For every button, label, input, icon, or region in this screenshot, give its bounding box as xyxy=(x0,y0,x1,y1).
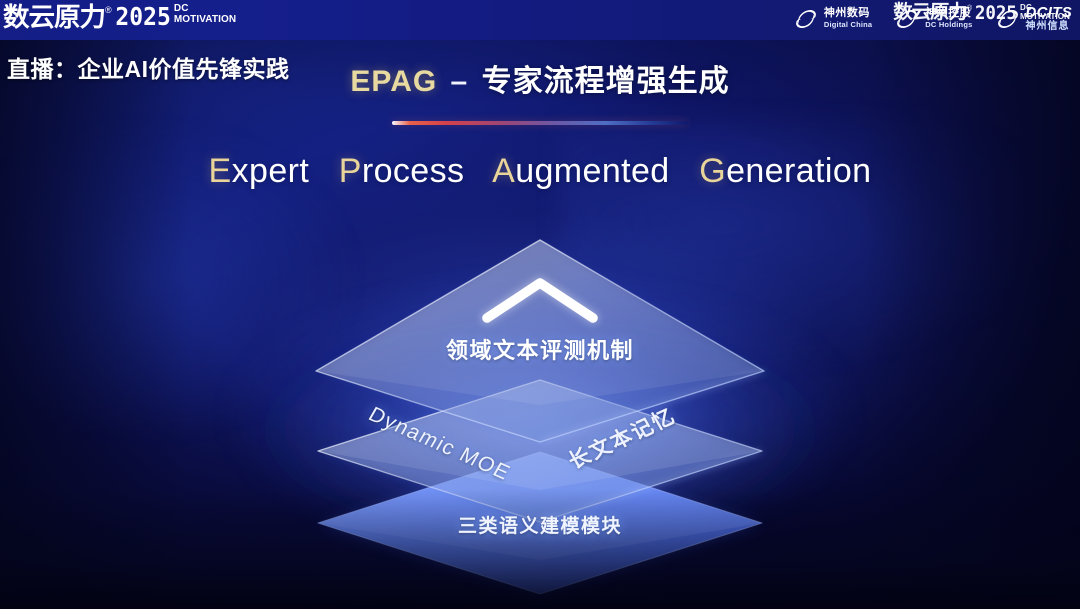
subtitle-word-rest: rocess xyxy=(362,152,465,190)
partner-name-cn: 神州控股 xyxy=(925,8,972,19)
subtitle-word-augmented: Augmented xyxy=(492,152,670,190)
swirl-logo-icon xyxy=(793,6,819,32)
partner-label-group: 神州数码 Digital China xyxy=(824,8,872,29)
subtitle-space xyxy=(319,152,329,190)
brand-logo: 数云原力 ® 2025 DC MOTIVATION xyxy=(4,2,236,32)
partner-logo-dc-holdings: 神州控股 DC Holdings xyxy=(894,6,972,32)
title-acronym: EPAG xyxy=(350,65,437,98)
partner-logo-dcits: DCITS 神州信息 xyxy=(995,5,1073,32)
swirl-logo-icon xyxy=(995,6,1021,32)
partner-label-group: 神州控股 DC Holdings xyxy=(925,8,972,29)
footer-watermark-logo: 数云原力 ® 2025 DC MOTIVATION xyxy=(894,2,1070,601)
subtitle-word-rest: xpert xyxy=(232,152,310,190)
brand-dc-label: DC xyxy=(174,4,236,14)
subtitle-space xyxy=(474,152,484,190)
subtitle-word-process: Process xyxy=(339,152,465,190)
subtitle-space xyxy=(679,152,689,190)
subtitle-word-expert: Expert xyxy=(209,152,310,190)
subtitle-word-rest: ugmented xyxy=(515,152,669,190)
diagram-label-bottom: 三类语义建模模块 xyxy=(458,511,622,538)
swirl-logo-icon xyxy=(894,6,920,32)
brand-motivation-label: MOTIVATION xyxy=(174,14,236,25)
title-divider-rule xyxy=(392,121,688,125)
subtitle-cap-letter: E xyxy=(209,152,232,190)
brand-registered-mark: ® xyxy=(105,4,112,16)
partner-name-en: DC Holdings xyxy=(925,21,972,29)
subtitle-word-rest: eneration xyxy=(726,152,871,190)
title-chinese: 专家流程增强生成 xyxy=(482,65,730,98)
partner-logo-digital-china: 神州数码 Digital China xyxy=(793,6,872,32)
subtitle-word-generation: Generation xyxy=(699,152,871,190)
subtitle-cap-letter: A xyxy=(492,152,515,190)
partner-name-cn: 神州信息 xyxy=(1026,22,1073,32)
diagram-label-top: 领域文本评测机制 xyxy=(446,333,634,365)
title-dash: – xyxy=(447,65,473,98)
partner-logo-group: 神州数码 Digital China 神州控股 DC Holdings xyxy=(793,5,1072,32)
partner-name-en: DCITS xyxy=(1026,5,1073,20)
live-broadcast-label: 直播：企业AI价值先锋实践 xyxy=(7,50,290,84)
brand-year: 2025 xyxy=(115,2,170,31)
partner-name-en: Digital China xyxy=(824,21,872,29)
partner-label-group: DCITS 神州信息 xyxy=(1026,5,1073,32)
brand-dc-motivation: DC MOTIVATION xyxy=(174,4,236,25)
subtitle-cap-letter: P xyxy=(339,152,362,190)
presentation-slide: 数云原力 ® 2025 DC MOTIVATION 直播：企业AI价值先锋实践 … xyxy=(0,0,1080,609)
subtitle-cap-letter: G xyxy=(699,152,726,190)
partner-name-cn: 神州数码 xyxy=(824,8,872,19)
brand-name-cn: 数云原力 xyxy=(3,2,105,32)
